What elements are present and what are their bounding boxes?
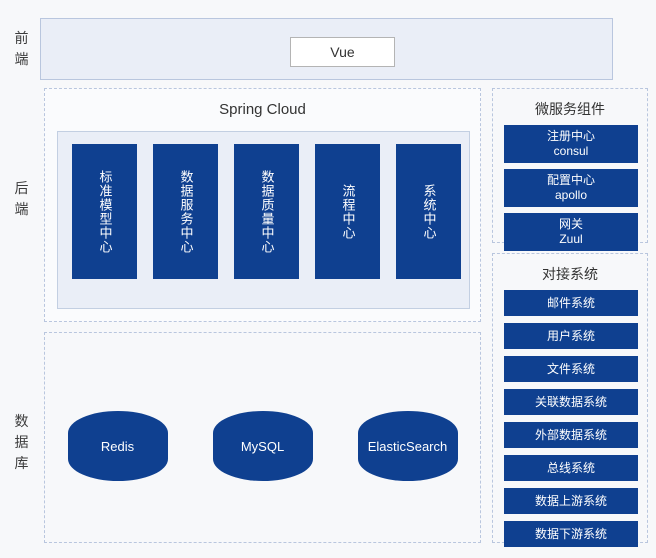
tier-label-database: 数 据 库 (2, 411, 42, 474)
tier-label-char: 后 (2, 178, 42, 199)
backend-panel: Spring Cloud 标准模型中心 数据服务中心 数据质量中心 流程中心 系… (44, 88, 481, 322)
microservice-chip-sublabel: consul (504, 144, 638, 159)
database-cylinder-mysql[interactable]: MySQL (213, 411, 313, 481)
database-cylinder-label: Redis (101, 439, 134, 454)
integration-chip-file-system[interactable]: 文件系统 (504, 356, 638, 382)
integration-chip-label: 总线系统 (547, 461, 595, 476)
service-card-label: 流程中心 (339, 184, 357, 240)
service-card-label: 数据服务中心 (177, 170, 195, 254)
integration-chip-label: 数据下游系统 (535, 527, 607, 542)
database-cylinder-row: Redis MySQL ElasticSearch (45, 411, 480, 481)
microservice-chip-sublabel: Zuul (504, 232, 638, 247)
tier-label-char: 据 (2, 432, 42, 453)
integration-chip-label: 用户系统 (547, 329, 595, 344)
integration-chip-label: 文件系统 (547, 362, 595, 377)
database-panel: Redis MySQL ElasticSearch (44, 332, 481, 543)
integration-chip-bus-system[interactable]: 总线系统 (504, 455, 638, 481)
tier-label-char: 数 (2, 411, 42, 432)
integration-chip-data-upstream-system[interactable]: 数据上游系统 (504, 488, 638, 514)
integration-systems-title: 对接系统 (493, 264, 647, 284)
frontend-panel: Vue (40, 18, 613, 80)
microservice-chip-gateway[interactable]: 网关 Zuul (504, 213, 638, 251)
service-card-label: 标准模型中心 (96, 170, 114, 254)
frontend-box-label: Vue (330, 44, 354, 60)
tier-label-char: 前 (2, 28, 42, 49)
database-cylinder-label: ElasticSearch (368, 439, 447, 454)
tier-label-frontend: 前 端 (2, 28, 42, 70)
integration-chip-label: 外部数据系统 (535, 428, 607, 443)
integration-chip-mail-system[interactable]: 邮件系统 (504, 290, 638, 316)
microservice-components-panel: 微服务组件 注册中心 consul 配置中心 apollo 网关 Zuul (492, 88, 648, 243)
service-group-box: 标准模型中心 数据服务中心 数据质量中心 流程中心 系统中心 (57, 131, 470, 309)
microservice-components-title: 微服务组件 (493, 99, 647, 119)
service-card-row: 标准模型中心 数据服务中心 数据质量中心 流程中心 系统中心 (72, 144, 461, 279)
microservice-chip-label: 网关 (504, 217, 638, 232)
integration-systems-list: 邮件系统 用户系统 文件系统 关联数据系统 外部数据系统 总线系统 数据上游系统… (504, 290, 638, 547)
architecture-diagram: 前 端 后 端 数 据 库 Vue Spring Cloud 标准模型中心 数据… (0, 0, 656, 558)
integration-chip-user-system[interactable]: 用户系统 (504, 323, 638, 349)
database-cylinder-elasticsearch[interactable]: ElasticSearch (358, 411, 458, 481)
microservice-chip-config-center[interactable]: 配置中心 apollo (504, 169, 638, 207)
service-card-label: 系统中心 (420, 184, 438, 240)
microservice-chip-label: 配置中心 (504, 173, 638, 188)
tier-label-char: 库 (2, 453, 42, 474)
service-card-process-center[interactable]: 流程中心 (315, 144, 380, 279)
microservice-chip-registry-center[interactable]: 注册中心 consul (504, 125, 638, 163)
microservice-components-list: 注册中心 consul 配置中心 apollo 网关 Zuul (504, 125, 638, 251)
frontend-box-vue[interactable]: Vue (290, 37, 395, 67)
tier-label-char: 端 (2, 199, 42, 220)
integration-chip-related-data-system[interactable]: 关联数据系统 (504, 389, 638, 415)
integration-chip-label: 邮件系统 (547, 296, 595, 311)
integration-systems-panel: 对接系统 邮件系统 用户系统 文件系统 关联数据系统 外部数据系统 总线系统 数… (492, 253, 648, 543)
service-card-data-quality-center[interactable]: 数据质量中心 (234, 144, 299, 279)
database-cylinder-redis[interactable]: Redis (68, 411, 168, 481)
service-card-data-service-center[interactable]: 数据服务中心 (153, 144, 218, 279)
service-card-label: 数据质量中心 (258, 170, 276, 254)
integration-chip-external-data-system[interactable]: 外部数据系统 (504, 422, 638, 448)
service-card-standard-model-center[interactable]: 标准模型中心 (72, 144, 137, 279)
integration-chip-label: 数据上游系统 (535, 494, 607, 509)
database-cylinder-label: MySQL (241, 439, 284, 454)
integration-chip-data-downstream-system[interactable]: 数据下游系统 (504, 521, 638, 547)
integration-chip-label: 关联数据系统 (535, 395, 607, 410)
microservice-chip-sublabel: apollo (504, 188, 638, 203)
microservice-chip-label: 注册中心 (504, 129, 638, 144)
service-card-system-center[interactable]: 系统中心 (396, 144, 461, 279)
tier-label-char: 端 (2, 49, 42, 70)
spring-cloud-title: Spring Cloud (45, 101, 480, 118)
tier-label-backend: 后 端 (2, 178, 42, 220)
